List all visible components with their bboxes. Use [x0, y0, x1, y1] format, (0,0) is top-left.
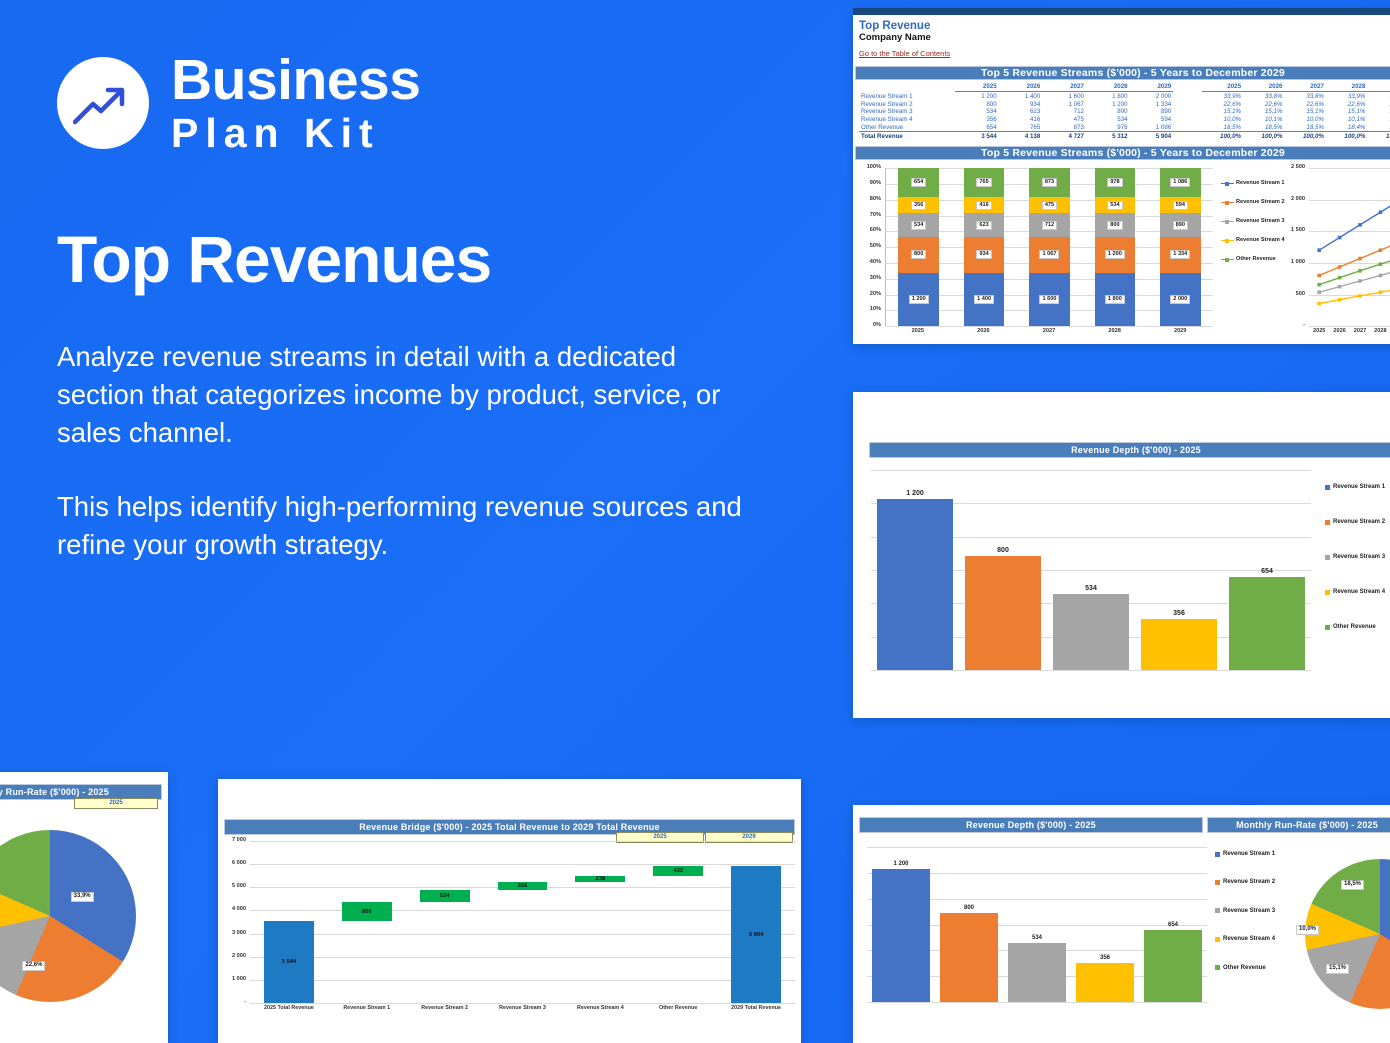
bar-value-label: 800: [959, 547, 1047, 554]
y-tick-label: 1 500: [1291, 227, 1305, 233]
cell-percent: 33,9%: [1367, 92, 1390, 100]
cell-value: 1 086: [1130, 124, 1174, 132]
y-tick-label: 4 000: [232, 906, 246, 912]
x-tick-label: Other Revenue: [639, 1005, 717, 1011]
bar-segment-label: 416: [976, 201, 991, 210]
legend-swatch: [1325, 520, 1330, 525]
x-tick-label: 2028: [1370, 328, 1390, 334]
legend-item: Revenue Stream 1: [1215, 851, 1295, 857]
y-tick-label: -: [244, 999, 246, 1005]
revenue-bridge-chart[interactable]: -1 0002 0003 0004 0005 0006 0007 000 3 5…: [218, 837, 801, 1037]
year-selector-left[interactable]: 2025: [74, 798, 158, 809]
cell-percent: 10,0%: [1285, 116, 1326, 124]
bar-segment: 765: [964, 168, 1005, 197]
cell-percent: 18,5%: [1202, 124, 1243, 132]
legend-label: Revenue Stream 4: [1333, 589, 1385, 595]
brand-line-2: Plan Kit: [171, 113, 420, 154]
col-header-year-pct: 2027: [1285, 83, 1326, 92]
legend-label: Revenue Stream 3: [1236, 218, 1285, 224]
cell-percent: 15,1%: [1202, 108, 1243, 116]
cell-value: 1 400: [999, 92, 1043, 100]
bar-segment: 594: [1160, 197, 1201, 213]
x-tick-label: 2027: [1016, 328, 1082, 334]
legend-line-marker: [1221, 259, 1234, 260]
y-tick-label: 6 000: [232, 860, 246, 866]
logo-circle: [57, 57, 149, 149]
legend-label: Other Revenue: [1223, 965, 1266, 971]
bar-segment-label: 475: [1042, 201, 1057, 210]
bar-value-label: 3 544: [282, 959, 297, 965]
gridline: [250, 1003, 795, 1004]
pie-slice-label: 22,6%: [22, 961, 45, 971]
total-cell-value: 4 138: [999, 132, 1043, 140]
bar-value-label: 534: [1047, 585, 1135, 592]
marketing-column: Business Plan Kit Top Revenues Analyze r…: [57, 52, 797, 564]
bar-value-label: 5 904: [749, 932, 764, 938]
bar-segment: 475: [1029, 197, 1070, 213]
y-tick-label: 5 000: [232, 883, 246, 889]
legend-swatch: [1325, 485, 1330, 490]
waterfall-total-bar: 5 904: [731, 866, 781, 1003]
marketing-paragraph-2: This helps identify high-performing reve…: [57, 488, 747, 564]
y-tick-label: 1 000: [232, 976, 246, 982]
legend-item: Revenue Stream 1: [1221, 180, 1283, 186]
col-header-year: 2029: [1130, 83, 1174, 92]
bar-segment-label: 1 200: [909, 295, 929, 304]
legend-marker: [1225, 201, 1229, 205]
gridline: [250, 957, 795, 958]
bar-value-label: 534: [440, 893, 450, 899]
y-tick-label: 20%: [870, 291, 881, 297]
bar-value-label: 654: [1223, 568, 1311, 575]
cell-value: 623: [999, 108, 1043, 116]
cell-percent: 10,1%: [1326, 116, 1367, 124]
col-header-year-pct: 2028: [1326, 83, 1367, 92]
revenue-depth-title-bottom: Revenue Depth ($'000) - 2025: [859, 817, 1203, 833]
total-cell-percent: 100,0%: [1367, 132, 1390, 140]
marketing-paragraph-1: Analyze revenue streams in detail with a…: [57, 338, 747, 452]
company-name: Company Name: [859, 32, 1390, 43]
revenue-depth-title-middle: Revenue Depth ($'000) - 2025: [869, 442, 1390, 458]
cell-value: 475: [1042, 116, 1086, 124]
cell-value: 1 200: [955, 92, 999, 100]
cell-percent: 10,1%: [1243, 116, 1284, 124]
line-series-group: [1309, 168, 1390, 326]
stacked-bar-column: 2 0001 3348905941 086: [1160, 168, 1201, 326]
bar-segment: 623: [964, 213, 1005, 237]
bar-segment: 873: [1029, 168, 1070, 197]
legend-item: Other Revenue: [1325, 624, 1390, 630]
revenue-depth-panel[interactable]: Revenue Depth ($'000) - 2025 1 200800534…: [853, 392, 1390, 718]
total-cell-percent: 100,0%: [1243, 132, 1284, 140]
bar-segment-label: 934: [976, 250, 991, 259]
bottom-charts-row: 1 200800534356654 Revenue Stream 1Revenu…: [853, 833, 1390, 1023]
cell-percent: 18,5%: [1285, 124, 1326, 132]
bar-value-label: 654: [1139, 922, 1207, 928]
cell-value: 1 200: [1086, 100, 1130, 108]
bar-segment-label: 1 067: [1039, 250, 1059, 259]
legend-marker: [1225, 220, 1229, 224]
bar-segment-label: 800: [1107, 221, 1122, 230]
legend-item: Revenue Stream 4: [1221, 237, 1283, 243]
cell-value: 1 067: [1042, 100, 1086, 108]
y-tick-label: 90%: [870, 180, 881, 186]
stacked-bar-column: 1 8001 200800534978: [1095, 168, 1136, 326]
bar-segment: 934: [964, 237, 1005, 273]
cell-percent: 22,6%: [1243, 100, 1284, 108]
charts-row: 0%10%20%30%40%50%60%70%80%90%100% 1 2008…: [853, 160, 1390, 344]
bar-column: [1229, 577, 1305, 670]
x-tick-label: 2029 Total Revenue: [717, 1005, 795, 1011]
legend-item: Revenue Stream 2: [1325, 519, 1390, 525]
legend-swatch: [1215, 880, 1220, 885]
table-row: 2025202620272028202920252026202720282029: [859, 83, 1390, 92]
bar-segment-label: 873: [1042, 178, 1057, 187]
col-header-year: 2027: [1042, 83, 1086, 92]
legend-label: Revenue Stream 4: [1223, 936, 1275, 942]
cell-percent: 10,1%: [1367, 116, 1390, 124]
bar-value-label: 1 200: [871, 490, 959, 497]
bar-value-label: 1 200: [867, 861, 935, 867]
bar-segment: 654: [898, 168, 939, 197]
table-of-contents-link[interactable]: Go to the Table of Contents: [859, 49, 950, 58]
bar-segment: 1 600: [1029, 273, 1070, 326]
cell-percent: 33,8%: [1243, 92, 1284, 100]
cell-value: 800: [955, 100, 999, 108]
bar-segment: 1 334: [1160, 237, 1201, 273]
col-header-year-pct: 2029: [1367, 83, 1390, 92]
cell-percent: 18,5%: [1243, 124, 1284, 132]
bar-segment-label: 356: [911, 201, 926, 210]
bar-column: [1008, 943, 1066, 1002]
table-corner-cell: [859, 83, 955, 92]
cell-value: 765: [999, 124, 1043, 132]
bar-segment: 534: [1095, 197, 1136, 213]
brand-wordmark: Business Plan Kit: [171, 52, 420, 154]
row-label: Other Revenue: [859, 124, 955, 132]
col-header-year: 2025: [955, 83, 999, 92]
bar-segment: 534: [898, 213, 939, 237]
legend-swatch: [1215, 852, 1220, 857]
y-tick-label: 70%: [870, 212, 881, 218]
legend-label: Revenue Stream 3: [1223, 908, 1275, 914]
x-tick-label: Revenue Stream 3: [484, 1005, 562, 1011]
bar-segment: 1 400: [964, 273, 1005, 326]
legend-item: Other Revenue: [1215, 965, 1295, 971]
legend-line-marker: [1221, 183, 1234, 184]
waterfall-delta-bar: 238: [575, 876, 625, 882]
bar-value-label: 800: [362, 909, 372, 915]
stacked-bar-column: 1 6001 067712475873: [1029, 168, 1070, 326]
legend-line-marker: [1221, 202, 1234, 203]
bar-segment: 800: [898, 237, 939, 273]
legend-item: Revenue Stream 4: [1215, 936, 1295, 942]
cell-percent: 22,6%: [1367, 100, 1390, 108]
total-cell-percent: 100,0%: [1202, 132, 1243, 140]
brand-line-1: Business: [171, 52, 420, 109]
legend-swatch: [1215, 937, 1220, 942]
bar-column: [940, 913, 998, 1002]
x-tick-label: 2028: [1082, 328, 1148, 334]
stacked-bar-column: 1 400934623416765: [964, 168, 1005, 326]
y-tick-label: 500: [1296, 291, 1305, 297]
table-band-title: Top 5 Revenue Streams ($'000) - 5 Years …: [855, 66, 1390, 80]
y-tick-label: 100%: [867, 164, 881, 170]
bar-segment: 800: [1095, 213, 1136, 237]
legend-item: Revenue Stream 3: [1215, 908, 1295, 914]
stacked-100-chart[interactable]: 0%10%20%30%40%50%60%70%80%90%100% 1 2008…: [859, 168, 1215, 344]
row-label: Revenue Stream 4: [859, 116, 955, 124]
bar-segment: 356: [898, 197, 939, 213]
chart-band-title: Top 5 Revenue Streams ($'000) - 5 Years …: [855, 146, 1390, 160]
cell-value: 1 334: [1130, 100, 1174, 108]
y-tick-label: 1 000: [1291, 259, 1305, 265]
table-row: Revenue Stream 435641647553459410,0%10,1…: [859, 116, 1390, 124]
cell-value: 890: [1130, 108, 1174, 116]
legend-item: Revenue Stream 2: [1221, 199, 1283, 205]
x-tick-label: 2029: [1147, 328, 1213, 334]
bar-segment: 2 000: [1160, 273, 1201, 327]
cell-value: 2 000: [1130, 92, 1174, 100]
trending-up-chart-icon: [73, 78, 133, 128]
y-tick-label: 50%: [870, 243, 881, 249]
pie-slice-label: 15,1%: [1326, 964, 1349, 974]
bar-segment-label: 594: [1173, 201, 1188, 210]
legend-line-marker: [1221, 221, 1234, 222]
x-tick-label: 2025: [1309, 328, 1329, 334]
bar-value-label: 534: [1003, 935, 1071, 941]
cell-value: 534: [1086, 116, 1130, 124]
pie-slice-label: 33,9%: [71, 892, 94, 902]
bar-column: [1144, 930, 1202, 1002]
waterfall-total-bar: 3 544: [264, 921, 314, 1003]
x-tick-label: 2026: [1329, 328, 1349, 334]
x-tick-label: Revenue Stream 4: [561, 1005, 639, 1011]
bar-segment-label: 654: [911, 178, 926, 187]
bar-segment-label: 1 334: [1170, 250, 1190, 259]
bar-value-label: 432: [673, 868, 683, 874]
legend-item: Revenue Stream 3: [1325, 554, 1390, 560]
bar-segment-label: 1 800: [1105, 295, 1125, 304]
cell-percent: 15,1%: [1285, 108, 1326, 116]
cell-value: 1 800: [1086, 92, 1130, 100]
bar-segment-label: 1 086: [1170, 178, 1190, 187]
legend-label: Revenue Stream 1: [1223, 851, 1275, 857]
cell-percent: 33,9%: [1326, 92, 1367, 100]
gridline: [886, 326, 1213, 327]
monthly-run-rate-panel-left[interactable]: Monthly Run-Rate ($'000) - 2025 2025 33,…: [0, 772, 168, 1043]
legend-item: Revenue Stream 4: [1325, 589, 1390, 595]
legend-item: Other Revenue: [1221, 256, 1283, 262]
legend-swatch: [1215, 908, 1220, 913]
cell-value: 534: [955, 108, 999, 116]
gridline: [250, 934, 795, 935]
bar-value-label: 800: [935, 905, 1003, 911]
table-gap-cell: [1173, 83, 1201, 92]
bar-segment: 1 200: [1095, 237, 1136, 273]
legend-swatch: [1215, 965, 1220, 970]
bar-column: [1076, 963, 1134, 1002]
gridline: [867, 1002, 1207, 1003]
bar-segment: 890: [1160, 213, 1201, 237]
y-tick-label: 7 000: [232, 837, 246, 843]
total-cell-value: 3 544: [955, 132, 999, 140]
total-cell-percent: 100,0%: [1326, 132, 1367, 140]
y-tick-label: 2 500: [1291, 164, 1305, 170]
gridline: [867, 847, 1207, 848]
y-tick-label: 2 000: [1291, 196, 1305, 202]
bar-segment-label: 1 200: [1105, 250, 1125, 259]
cell-value: 934: [999, 100, 1043, 108]
cell-percent: 22,6%: [1202, 100, 1243, 108]
monthly-run-rate-pie-bottom-left[interactable]: 33,9%22,6%15,1%10,0%18,5%: [0, 822, 168, 1032]
legend-swatch: [1325, 590, 1330, 595]
waterfall-delta-bar: 800: [342, 902, 392, 921]
legend-label: Revenue Stream 1: [1333, 484, 1385, 490]
trend-line-chart-legend: Revenue Stream 1Revenue Stream 2Revenue …: [1221, 180, 1283, 275]
cell-value: 978: [1086, 124, 1130, 132]
cell-percent: 18,4%: [1326, 124, 1367, 132]
legend-item: Revenue Stream 2: [1215, 879, 1295, 885]
gridline: [250, 910, 795, 911]
y-tick-label: -: [1303, 322, 1305, 328]
total-row-label: Total Revenue: [859, 132, 955, 140]
revenue-depth-and-pie-panel[interactable]: Revenue Depth ($'000) - 2025 Monthly Run…: [853, 805, 1390, 1043]
panel-topbar: [853, 8, 1390, 15]
y-tick-label: 60%: [870, 227, 881, 233]
trend-line-chart[interactable]: -5001 0001 5002 0002 500 202520262027202…: [1285, 168, 1390, 344]
cell-percent: 33,9%: [1202, 92, 1243, 100]
cell-value: 356: [955, 116, 999, 124]
bar-segment-label: 2 000: [1170, 295, 1190, 304]
legend-label: Revenue Stream 2: [1223, 879, 1275, 885]
total-cell-value: 5 312: [1086, 132, 1130, 140]
legend-label: Other Revenue: [1333, 624, 1376, 630]
gridline: [1309, 326, 1390, 327]
legend-swatch: [1325, 625, 1330, 630]
bar-segment-label: 534: [1107, 201, 1122, 210]
col-header-year-pct: 2025: [1202, 83, 1243, 92]
col-header-year: 2026: [999, 83, 1043, 92]
brand-logo: Business Plan Kit: [57, 52, 797, 154]
y-tick-label: 80%: [870, 196, 881, 202]
total-cell-value: 5 904: [1130, 132, 1174, 140]
gridline: [250, 864, 795, 865]
table-row: Total Revenue3 5444 1384 7275 3125 90410…: [859, 132, 1390, 140]
bar-segment: 1 800: [1095, 273, 1136, 327]
bar-column: [872, 869, 930, 1002]
x-tick-label: 2027: [1350, 328, 1370, 334]
table-row: Other Revenue6547658739781 08618,5%18,5%…: [859, 124, 1390, 132]
revenue-depth-chart-bottom[interactable]: 1 200800534356654: [867, 847, 1207, 1002]
cell-value: 594: [1130, 116, 1174, 124]
total-cell-percent: 100,0%: [1285, 132, 1326, 140]
gridline: [871, 470, 1311, 471]
bar-segment-label: 1 600: [1039, 295, 1059, 304]
cell-value: 416: [999, 116, 1043, 124]
row-label: Revenue Stream 3: [859, 108, 955, 116]
cell-value: 654: [955, 124, 999, 132]
cell-percent: 33,8%: [1285, 92, 1326, 100]
bar-segment-label: 534: [911, 221, 926, 230]
bar-segment: 1 067: [1029, 237, 1070, 273]
bar-segment-label: 765: [976, 178, 991, 187]
bar-value-label: 356: [1135, 610, 1223, 617]
bar-segment-label: 800: [911, 250, 926, 259]
gridline: [250, 980, 795, 981]
waterfall-delta-bar: 356: [498, 882, 548, 890]
cell-percent: 22,6%: [1285, 100, 1326, 108]
cell-value: 1 600: [1042, 92, 1086, 100]
y-tick-label: 40%: [870, 259, 881, 265]
monthly-run-rate-pie-bottom-right[interactable]: 33,9%22,6%15,1%10,0%18,5%: [1305, 859, 1390, 1009]
legend-marker: [1225, 182, 1229, 186]
bar-segment: 978: [1095, 168, 1136, 197]
y-tick-label: 0%: [873, 322, 881, 328]
bar-value-label: 356: [518, 883, 528, 889]
bar-segment-label: 1 400: [974, 295, 994, 304]
y-tick-label: 10%: [870, 306, 881, 312]
revenue-streams-table: 2025202620272028202920252026202720282029…: [859, 83, 1390, 140]
legend-swatch: [1325, 555, 1330, 560]
gridline: [871, 670, 1311, 671]
row-label: Revenue Stream 1: [859, 92, 955, 100]
table-row: Revenue Stream 28009341 0671 2001 33422,…: [859, 100, 1390, 108]
y-tick-label: 30%: [870, 275, 881, 281]
bar-value-label: 238: [596, 876, 606, 882]
legend-marker: [1225, 258, 1229, 262]
cell-percent: 18,4%: [1367, 124, 1390, 132]
table-row: Revenue Stream 11 2001 4001 6001 8002 00…: [859, 92, 1390, 100]
revenue-bridge-panel[interactable]: Revenue Bridge ($'000) - 2025 Total Reve…: [218, 779, 801, 1043]
legend-item: Revenue Stream 1: [1325, 484, 1390, 490]
top-revenue-sheet-panel[interactable]: Top Revenue Company Name Go to the Table…: [853, 8, 1390, 344]
cell-value: 873: [1042, 124, 1086, 132]
x-tick-label: Revenue Stream 1: [328, 1005, 406, 1011]
bar-segment: 1 200: [898, 273, 939, 326]
legend-marker: [1225, 239, 1229, 243]
legend-label: Revenue Stream 4: [1236, 237, 1285, 243]
bar-column: [1141, 619, 1217, 670]
y-tick-label: 2 000: [232, 953, 246, 959]
bar-column: [877, 499, 953, 670]
bar-segment-label: 978: [1107, 178, 1122, 187]
legend-label: Revenue Stream 1: [1236, 180, 1285, 186]
sheet-title: Top Revenue: [859, 20, 1390, 32]
gridline: [250, 841, 795, 842]
bar-segment-label: 623: [976, 221, 991, 230]
legend-label: Revenue Stream 2: [1236, 199, 1285, 205]
x-tick-label: 2025: [885, 328, 951, 334]
page-title: Top Revenues: [57, 226, 797, 292]
x-tick-label: Revenue Stream 2: [406, 1005, 484, 1011]
waterfall-delta-bar: 534: [420, 890, 470, 902]
revenue-depth-chart-middle[interactable]: 1 200800534356654 Revenue Stream 1Revenu…: [853, 462, 1390, 692]
table-row: Revenue Stream 353462371280089015,1%15,1…: [859, 108, 1390, 116]
row-label: Revenue Stream 2: [859, 100, 955, 108]
bar-segment-label: 890: [1173, 221, 1188, 230]
cell-value: 800: [1086, 108, 1130, 116]
total-cell-value: 4 727: [1042, 132, 1086, 140]
bar-segment: 1 086: [1160, 168, 1201, 197]
bar-segment: 712: [1029, 213, 1070, 237]
bar-value-label: 356: [1071, 955, 1139, 961]
cell-percent: 15,1%: [1367, 108, 1390, 116]
cell-percent: 10,0%: [1202, 116, 1243, 124]
legend-line-marker: [1221, 240, 1234, 241]
cell-percent: 22,6%: [1326, 100, 1367, 108]
bar-column: [1053, 594, 1129, 670]
